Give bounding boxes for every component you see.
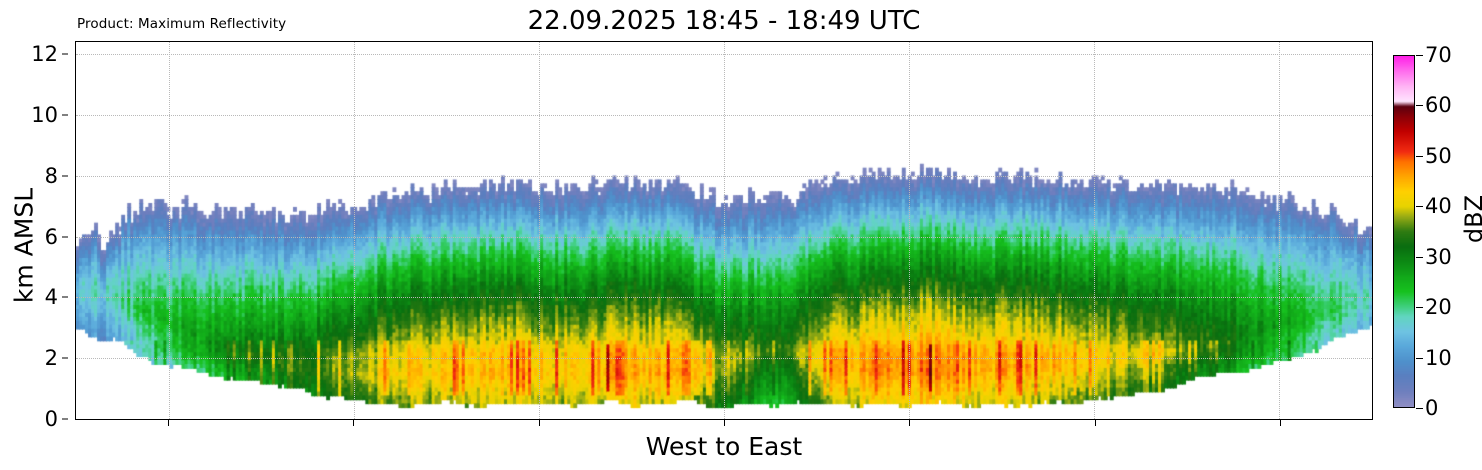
y-axis: km AMSL 024681012 — [0, 41, 68, 420]
colorbar-tick-mark — [1416, 307, 1423, 308]
plot-area — [75, 41, 1373, 420]
colorbar-title: dBZ — [1460, 189, 1482, 249]
colorbar: 010203040506070 — [1393, 55, 1415, 408]
colorbar-tick-label: 0 — [1425, 396, 1438, 420]
y-tick-label: 4 — [45, 285, 58, 309]
colorbar-tick-label: 70 — [1425, 43, 1452, 67]
x-axis-label: West to East — [75, 432, 1373, 461]
colorbar-tick-mark — [1416, 206, 1423, 207]
colorbar-tick-mark — [1416, 55, 1423, 56]
colorbar-canvas — [1394, 56, 1414, 407]
x-tick-mark — [724, 420, 725, 426]
y-tick-label: 6 — [45, 225, 58, 249]
y-tick-mark — [62, 114, 68, 115]
x-tick-mark — [168, 420, 169, 426]
colorbar-tick-label: 20 — [1425, 295, 1452, 319]
y-tick-label: 12 — [31, 42, 58, 66]
y-tick-mark — [62, 358, 68, 359]
colorbar-gradient — [1393, 55, 1415, 408]
x-tick-mark — [1280, 420, 1281, 426]
colorbar-tick-mark — [1416, 408, 1423, 409]
colorbar-tick-label: 30 — [1425, 245, 1452, 269]
y-tick-mark — [62, 175, 68, 176]
y-tick-label: 8 — [45, 164, 58, 188]
y-tick-mark — [62, 297, 68, 298]
colorbar-tick-label: 60 — [1425, 93, 1452, 117]
x-tick-mark — [1095, 420, 1096, 426]
page-title: 22.09.2025 18:45 - 18:49 UTC — [75, 6, 1373, 36]
y-axis-label: km AMSL — [10, 126, 39, 366]
x-tick-mark — [353, 420, 354, 426]
colorbar-tick-mark — [1416, 105, 1423, 106]
colorbar-tick-mark — [1416, 257, 1423, 258]
radar-cross-section-figure: Product: Maximum Reflectivity 22.09.2025… — [0, 0, 1482, 470]
colorbar-tick-mark — [1416, 156, 1423, 157]
x-tick-mark — [539, 420, 540, 426]
y-tick-label: 0 — [45, 407, 58, 431]
y-tick-mark — [62, 54, 68, 55]
y-tick-label: 2 — [45, 346, 58, 370]
y-tick-mark — [62, 419, 68, 420]
colorbar-tick-label: 50 — [1425, 144, 1452, 168]
colorbar-tick-label: 40 — [1425, 194, 1452, 218]
colorbar-tick-label: 10 — [1425, 346, 1452, 370]
x-tick-mark — [909, 420, 910, 426]
colorbar-tick-mark — [1416, 358, 1423, 359]
y-tick-label: 10 — [31, 103, 58, 127]
reflectivity-heatmap — [76, 42, 1372, 419]
y-tick-mark — [62, 236, 68, 237]
